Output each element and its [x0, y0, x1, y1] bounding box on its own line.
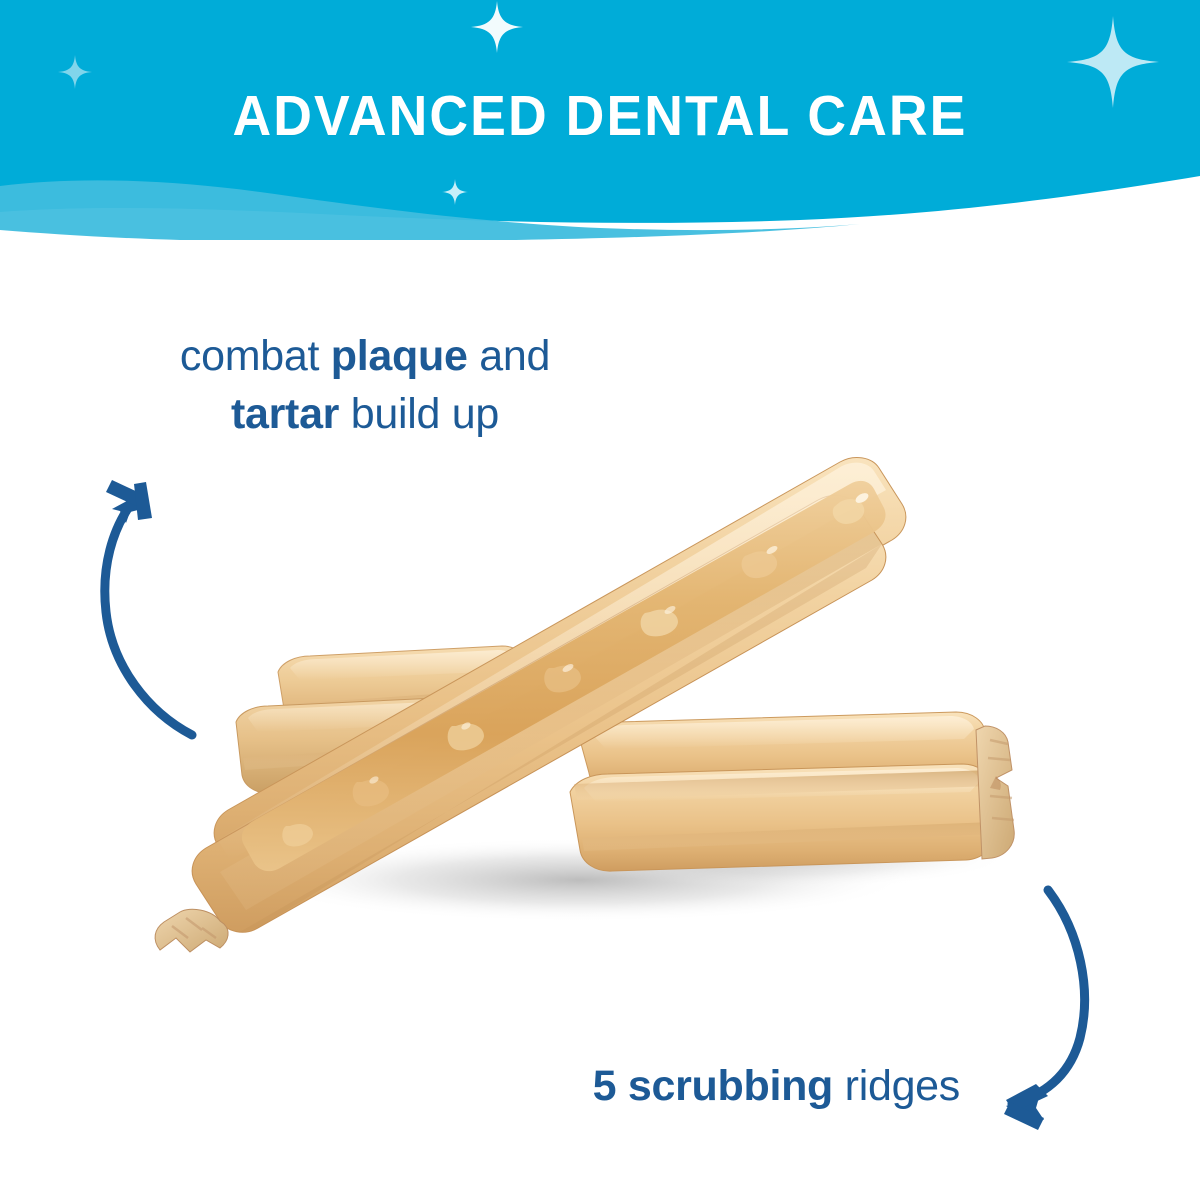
callout-line1-bold: plaque	[331, 332, 468, 380]
callout-plaque-tartar: combat plaque and tartar build up	[100, 328, 630, 443]
callout-scrubbing-ridges: 5 scrubbing ridges	[400, 1058, 960, 1116]
chew-cut-end-right	[976, 726, 1014, 859]
callout-line2-bold: tartar	[231, 390, 339, 438]
dental-chew-sticks-illustration	[150, 440, 1050, 940]
header-banner: ADVANCED DENTAL CARE	[0, 0, 1200, 240]
callout-ridges-suffix: ridges	[833, 1062, 960, 1110]
page-title: ADVANCED DENTAL CARE	[36, 88, 1164, 145]
callout-line1-prefix: combat	[180, 332, 331, 380]
dental-chew-sticks-image	[150, 440, 1050, 940]
callout-ridges-bold: 5 scrubbing	[593, 1062, 833, 1110]
callout-plaque-tartar-line1: combat plaque and	[100, 328, 630, 386]
callout-plaque-tartar-line2: tartar build up	[100, 386, 630, 444]
callout-line1-suffix: and	[468, 332, 551, 380]
callout-line2-suffix: build up	[339, 390, 499, 438]
chew-stick-front-right	[570, 712, 1014, 871]
product-feature-card: ADVANCED DENTAL CARE combat plaque and t…	[0, 0, 1200, 1200]
